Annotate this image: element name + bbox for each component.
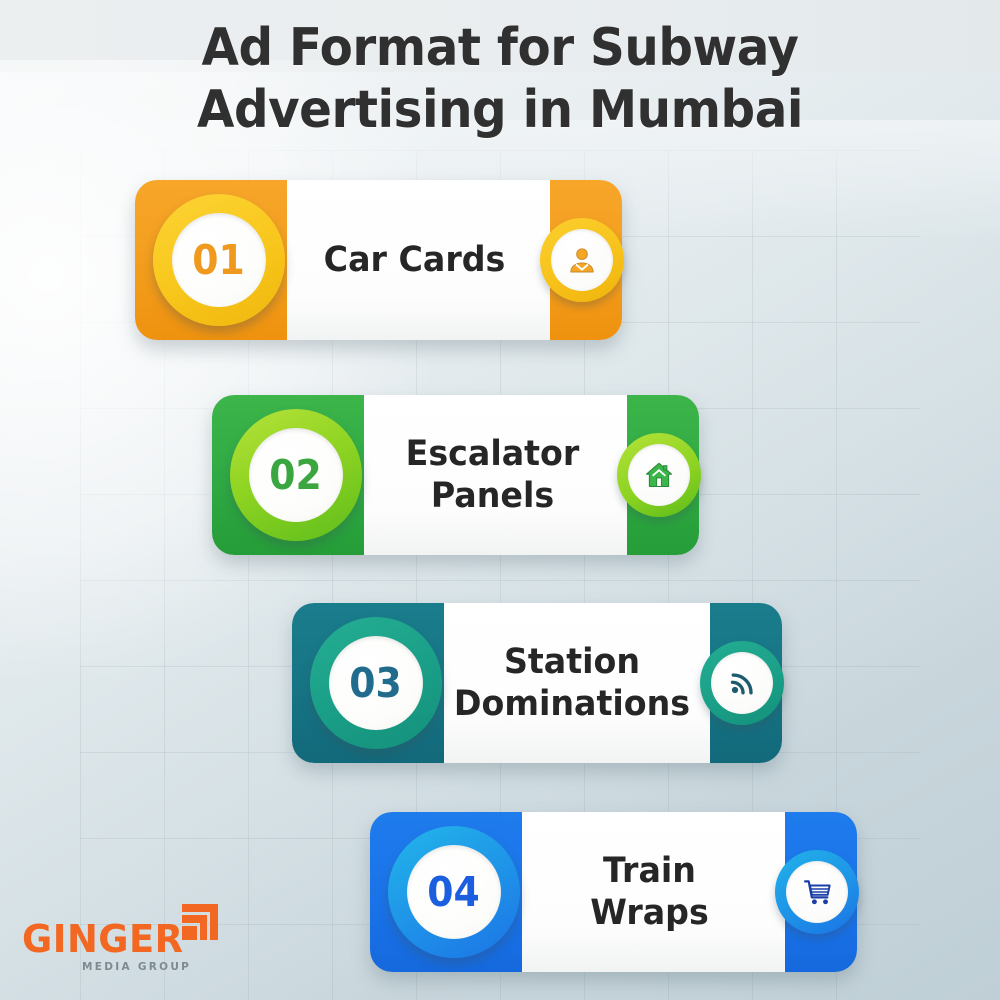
card-3-label: Station Dominations: [464, 603, 681, 763]
rss-signal-icon: [727, 668, 757, 698]
card-3-number-badge: 03: [310, 617, 442, 749]
brand-logo-subtitle: MEDIA GROUP: [82, 961, 222, 973]
card-2-number-text: 02: [270, 451, 322, 499]
home-icon: [643, 459, 675, 491]
card-4-icon-badge[interactable]: [775, 850, 859, 934]
card-1-icon-badge[interactable]: [540, 218, 624, 302]
card-3-icon-inner: [711, 652, 773, 714]
card-3-number-inner: 03: [329, 636, 423, 730]
billboard-bracket-mark-icon: [174, 902, 220, 947]
card-4-label: Train Wraps: [557, 812, 742, 972]
card-1-label: Car Cards: [322, 180, 507, 340]
brand-logo[interactable]: GINGER MEDIA GROUP: [22, 920, 222, 990]
card-3-icon-badge[interactable]: [700, 641, 784, 725]
card-2-label-line-2: Panels: [431, 475, 554, 517]
page-title-line-2: Advertising in Mumbai: [35, 80, 965, 142]
card-4-number-badge: 04: [388, 826, 520, 958]
card-2-icon-inner: [628, 444, 690, 506]
format-card-2[interactable]: 02 Escalator Panels: [212, 395, 699, 555]
background-glow: [0, 60, 440, 680]
card-2-icon-badge[interactable]: [617, 433, 701, 517]
card-4-label-line-1: Train Wraps: [557, 850, 742, 934]
card-2-number-inner: 02: [249, 428, 343, 522]
page-title: Ad Format for Subway Advertising in Mumb…: [35, 18, 965, 142]
card-3-number-text: 03: [350, 659, 402, 707]
card-1-number-inner: 01: [172, 213, 266, 307]
page-title-line-1: Ad Format for Subway: [35, 18, 965, 80]
card-3-label-line-2: Dominations: [454, 683, 690, 725]
card-4-icon-inner: [786, 861, 848, 923]
card-1-icon-inner: [551, 229, 613, 291]
card-1-label-line-1: Car Cards: [324, 239, 506, 281]
card-2-number-badge: 02: [230, 409, 362, 541]
card-2-label: Escalator Panels: [395, 395, 590, 555]
format-card-4[interactable]: 04 Train Wraps: [370, 812, 857, 972]
format-card-1[interactable]: 01 Car Cards: [135, 180, 622, 340]
format-card-3[interactable]: 03 Station Dominations: [292, 603, 782, 763]
card-2-label-line-1: Escalator: [406, 433, 580, 475]
card-4-number-text: 04: [428, 868, 480, 916]
user-icon: [566, 244, 598, 276]
card-1-number-badge: 01: [153, 194, 285, 326]
shopping-cart-icon: [802, 877, 833, 908]
card-1-number-text: 01: [193, 236, 245, 284]
card-4-number-inner: 04: [407, 845, 501, 939]
infographic-canvas: Ad Format for Subway Advertising in Mumb…: [0, 0, 1000, 1000]
card-3-label-line-1: Station: [504, 641, 640, 683]
